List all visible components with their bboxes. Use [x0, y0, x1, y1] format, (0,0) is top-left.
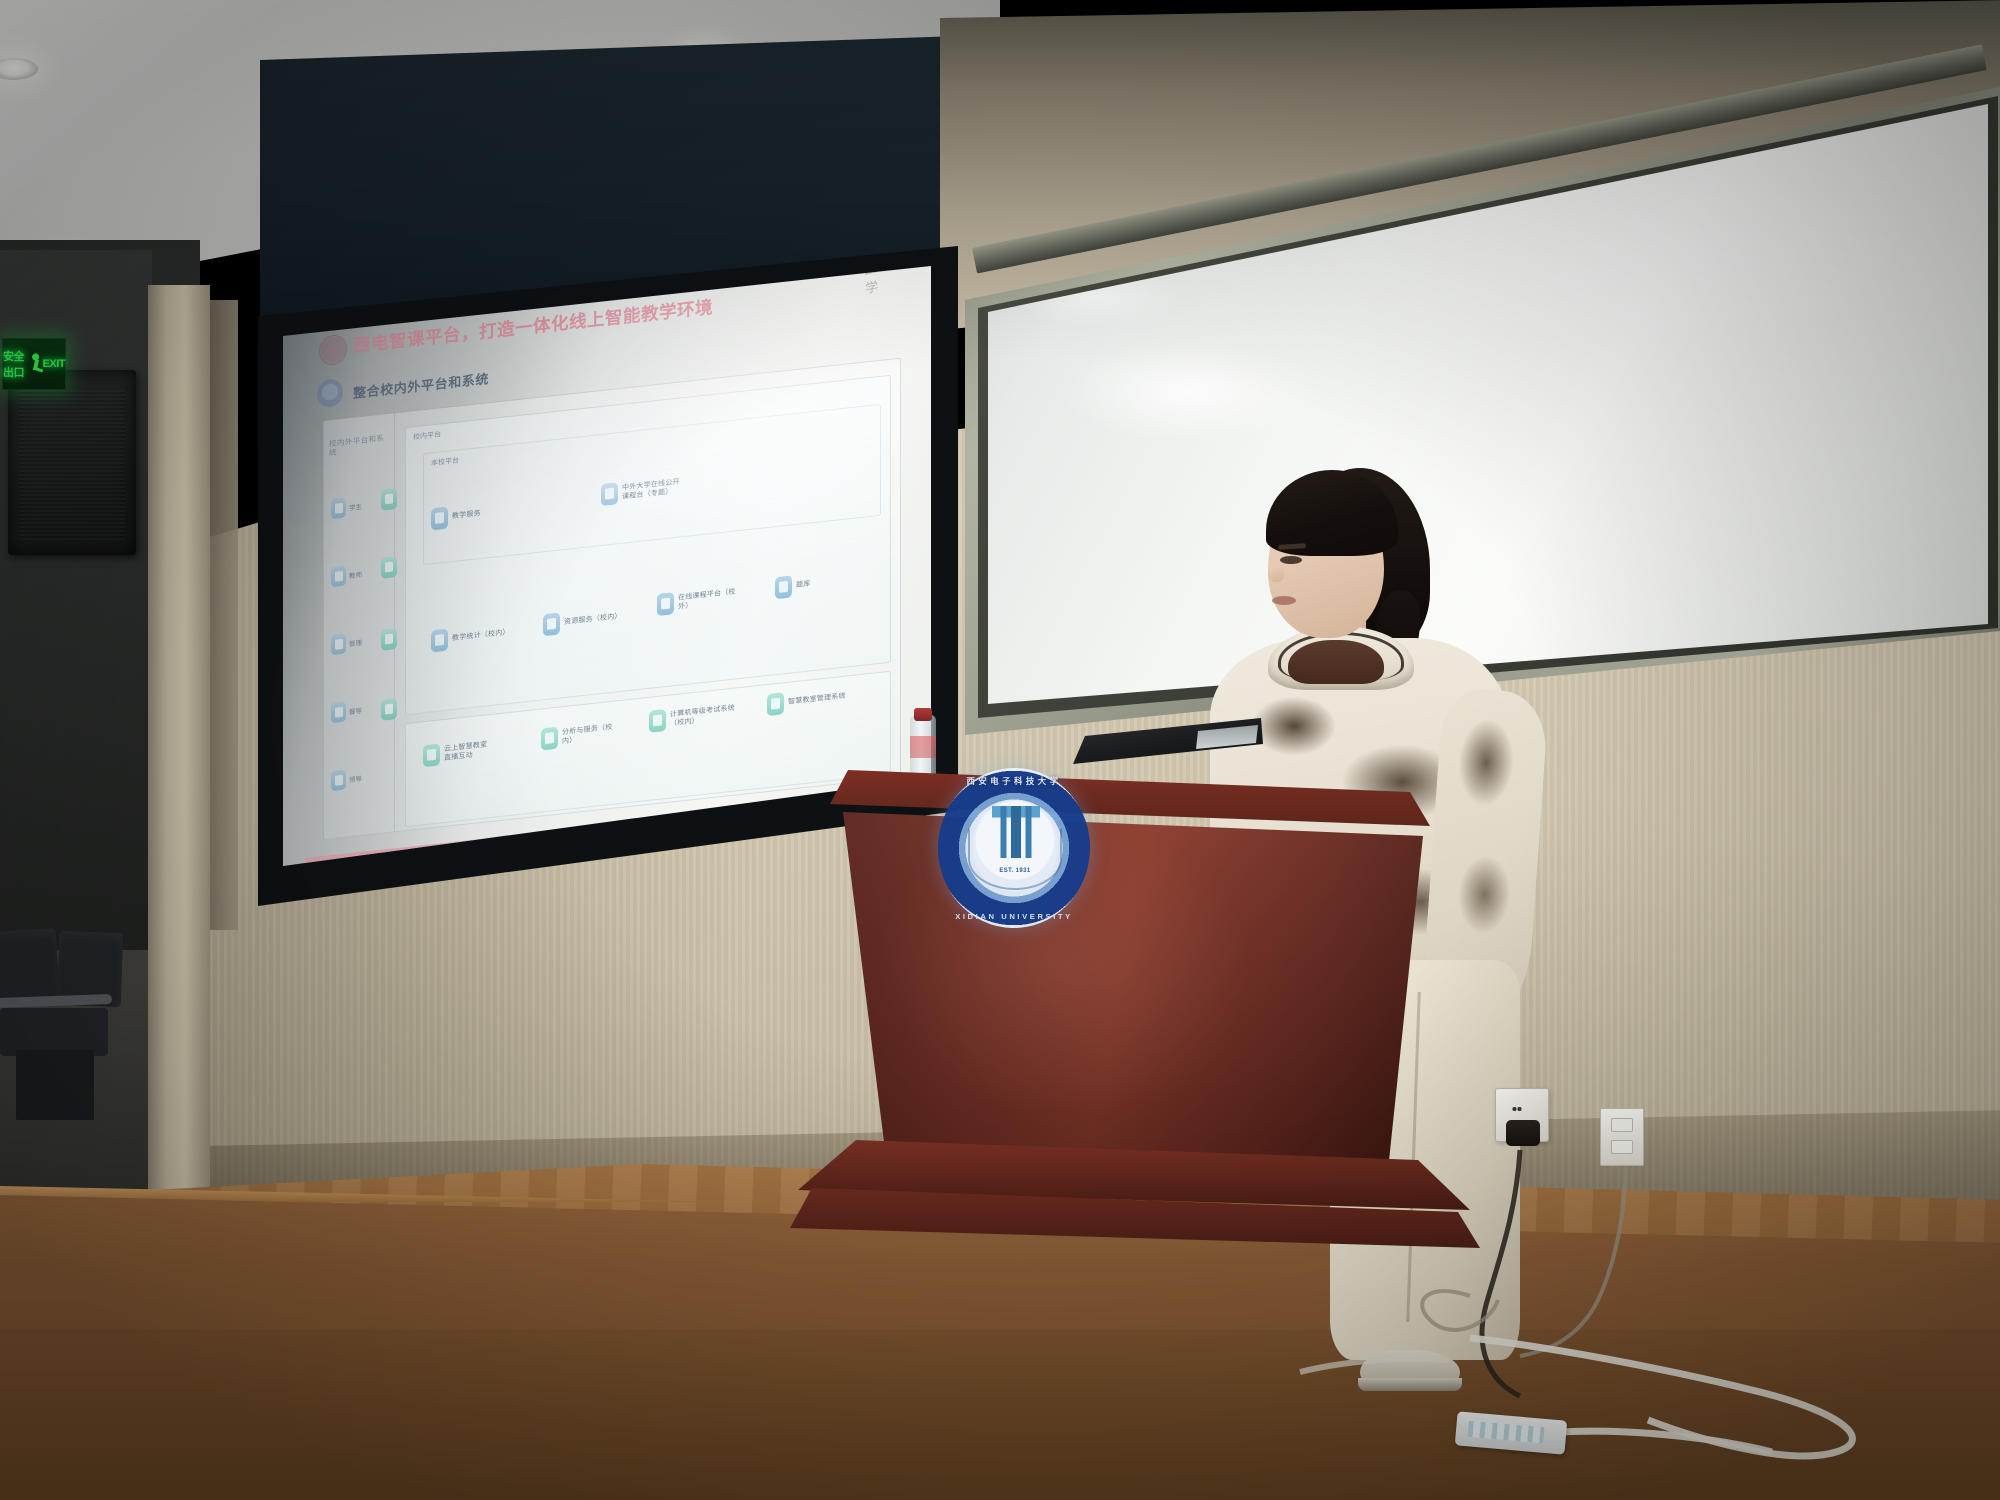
plugged-in-plug [1506, 1120, 1540, 1146]
podium-gloss [843, 790, 1423, 1170]
data-port-jack-1[interactable] [1611, 1118, 1633, 1132]
slide-calligraphy-watermark: 西安电子科技大学 [863, 266, 931, 315]
node-icon-2 [381, 556, 397, 579]
exam-system-icon [649, 709, 666, 733]
row2-node-label-0: 教学统计（校内） [452, 628, 510, 643]
slide-university-seal-icon [319, 333, 347, 366]
chair-leg-assembly [16, 1050, 94, 1120]
exit-sign-right-label: EXIT [43, 358, 65, 370]
node-icon-4 [381, 698, 397, 721]
power-outlet-holes [1512, 1106, 1522, 1112]
row2-node-label-2: 在线课程平台（校 外） [678, 587, 736, 611]
left-wooden-pillar [148, 285, 210, 1215]
rail-node-0: 学生 [331, 496, 362, 519]
exit-sign: 安全出口 EXIT [2, 338, 66, 390]
row1-node-label-0: 教学服务 [452, 509, 481, 521]
rail-node-3: 督导 [331, 700, 362, 723]
presenter-eye [1280, 556, 1302, 564]
lower-floor [0, 1330, 2000, 1500]
teaching-service-icon [431, 507, 448, 531]
presenter-shoe-sole [1358, 1378, 1462, 1391]
question-bank-icon [775, 575, 792, 599]
resource-icon [543, 612, 560, 636]
admin-icon [331, 634, 346, 656]
online-course-icon [657, 592, 674, 616]
rail-node-2: 管理 [331, 632, 362, 655]
statistics-icon [431, 629, 448, 653]
rail-node-label-1: 教师 [349, 569, 362, 580]
water-bottle-cap [914, 708, 932, 721]
section-list-icon [317, 378, 343, 409]
rail-node-label-3: 督导 [349, 705, 362, 716]
presenter-nose [1268, 566, 1284, 582]
speaker-grille [18, 390, 126, 540]
rail-node-label-0: 学生 [349, 501, 362, 512]
row2-node-3: 题库 [775, 573, 810, 599]
water-bottle-label [910, 736, 936, 758]
row3-node-label-0: 云上智慧教室 直播互动 [444, 740, 487, 763]
row3-node-label-3: 智慧教室管理系统 [788, 692, 846, 707]
data-port-panel[interactable] [1600, 1108, 1644, 1166]
row3-node-label-1: 分析与服务（校 内） [562, 723, 612, 747]
rail-node-label-2: 管理 [349, 637, 362, 648]
open-course-icon [601, 482, 618, 506]
student-icon [331, 498, 346, 520]
supervisor-icon [331, 702, 346, 724]
rail-node-4: 领导 [331, 768, 362, 791]
data-port-jack-2[interactable] [1611, 1140, 1633, 1154]
exit-sign-left-label: 安全出口 [3, 348, 30, 380]
row2-node-label-3: 题库 [796, 580, 810, 591]
row2-node-label-1: 资源服务（校内） [564, 612, 622, 627]
leader-icon [331, 770, 346, 792]
projection-screen-surface: 西电智课平台，打造一体化线上智能教学环境 西安电子科技大学 整合校内外平台和系统… [283, 266, 931, 866]
node-icon-3 [381, 628, 397, 651]
lecture-hall-photo: 安全出口 EXIT 西电智课平台，打造一体化线上智能教学环境 西安电子科技大学 … [0, 0, 2000, 1500]
node-icon-1 [381, 488, 397, 511]
row1-node-label-1: 中外大学在线公开 课程台（专题） [622, 477, 680, 501]
rail-node-1: 教师 [331, 564, 362, 587]
emblem-english-text: XIDIAN UNIVERSITY [938, 768, 1090, 928]
presentation-slide: 西电智课平台，打造一体化线上智能教学环境 西安电子科技大学 整合校内外平台和系统… [283, 266, 931, 866]
presenter-mouth [1272, 596, 1296, 605]
running-person-icon [32, 353, 40, 375]
cloud-classroom-icon [423, 743, 440, 767]
rail-node-label-4: 领导 [349, 773, 362, 784]
classroom-mgmt-icon [767, 692, 784, 716]
analysis-icon [541, 727, 558, 751]
chair-back-left [0, 928, 61, 1006]
teacher-icon [331, 566, 346, 588]
slide-section-heading: 整合校内外平台和系统 [353, 368, 489, 402]
chair-seat [0, 1008, 108, 1056]
